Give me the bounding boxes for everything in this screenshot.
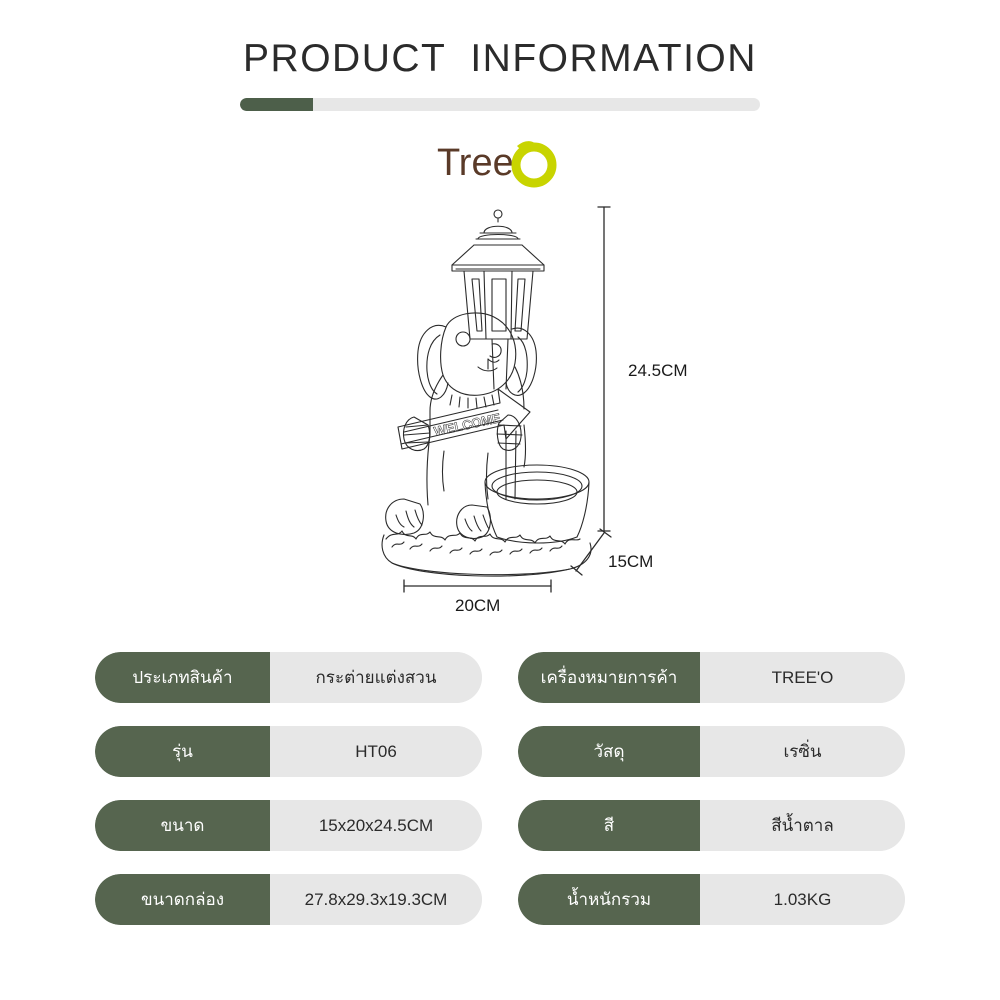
spec-label: น้ำหนักรวม [518,874,700,925]
spec-label: ขนาด [95,800,270,851]
treeo-logo-icon: Tree [435,133,565,191]
spec-row-trademark: เครื่องหมายการค้า TREE'O [518,652,905,703]
logo-ring-icon [516,147,552,183]
product-line-drawing: 24.5CM 15CM 20CM WELCOME [0,199,1000,629]
spec-label: เครื่องหมายการค้า [518,652,700,703]
brand-logo: Tree [0,133,1000,195]
logo-wordmark: Tree [437,142,514,184]
spec-row-model: รุ่น HT06 [95,726,482,777]
dimension-depth-label: 15CM [608,552,653,571]
spec-value: สีน้ำตาล [700,800,905,851]
spec-value: กระต่ายแต่งสวน [270,652,482,703]
spec-label: สี [518,800,700,851]
planter-pot-icon [485,465,589,543]
dimension-height-label: 24.5CM [628,361,688,380]
spec-label: ขนาดกล่อง [95,874,270,925]
spec-row-color: สี สีน้ำตาล [518,800,905,851]
spec-value: 15x20x24.5CM [270,800,482,851]
spec-value: เรซิ่น [700,726,905,777]
progress-fill [240,98,313,111]
spec-row-product-type: ประเภทสินค้า กระต่ายแต่งสวน [95,652,482,703]
spec-value: TREE'O [700,652,905,703]
lantern-icon [452,210,544,499]
spec-row-gross-weight: น้ำหนักรวม 1.03KG [518,874,905,925]
spec-row-box-size: ขนาดกล่อง 27.8x29.3x19.3CM [95,874,482,925]
spec-label: ประเภทสินค้า [95,652,270,703]
spec-label: วัสดุ [518,726,700,777]
welcome-sign-text: WELCOME [433,410,503,439]
spec-value: 27.8x29.3x19.3CM [270,874,482,925]
dimension-height [598,207,610,531]
dimension-width-label: 20CM [455,596,500,615]
dimension-width [404,580,551,592]
spec-value: HT06 [270,726,482,777]
page-title: PRODUCT INFORMATION [0,38,1000,81]
progress-track [240,98,760,111]
spec-row-material: วัสดุ เรซิ่น [518,726,905,777]
specification-table: ประเภทสินค้า กระต่ายแต่งสวน เครื่องหมายก… [0,652,1000,925]
spec-label: รุ่น [95,726,270,777]
progress-bar [240,98,760,111]
product-illustration-area: 24.5CM 15CM 20CM WELCOME [0,199,1000,629]
grass-base [382,531,591,576]
spec-value: 1.03KG [700,874,905,925]
page-header: PRODUCT INFORMATION [0,0,1000,111]
spec-row-size: ขนาด 15x20x24.5CM [95,800,482,851]
